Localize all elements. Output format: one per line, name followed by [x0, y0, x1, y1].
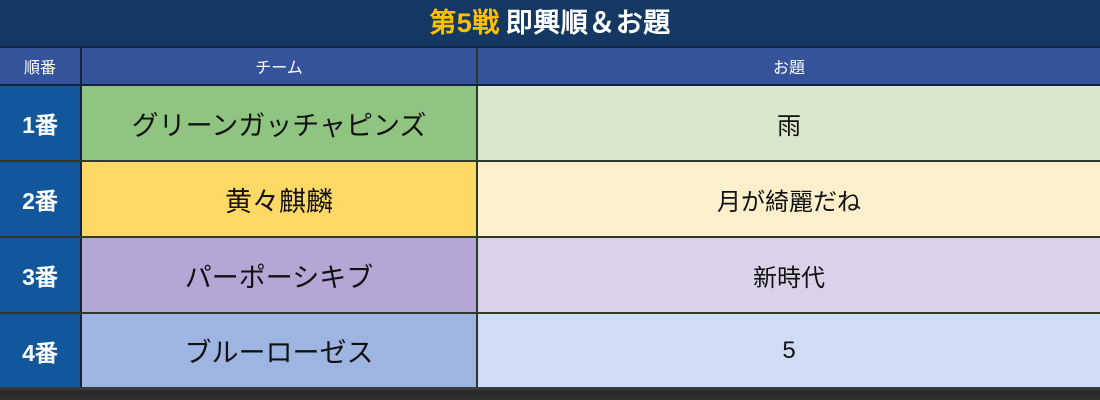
title-subject: 即興順＆お題 — [506, 8, 671, 38]
cell-team: 黄々麒麟 — [82, 162, 478, 236]
cell-team: パーポーシキブ — [82, 238, 478, 312]
order-and-topic-table: 順番 チーム お題 1番 グリーンガッチャピンズ 雨 2番 黄々麒麟 月が綺麗だ… — [0, 48, 1100, 396]
table-header-row: 順番 チーム お題 — [0, 48, 1100, 86]
cell-topic: 5 — [478, 314, 1100, 387]
title-bar: 第5戦即興順＆お題 — [0, 0, 1100, 48]
cell-topic: 雨 — [478, 86, 1100, 160]
table-row: 3番 パーポーシキブ 新時代 — [0, 238, 1100, 314]
cell-topic: 月が綺麗だね — [478, 162, 1100, 236]
column-header-topic: お題 — [478, 48, 1100, 84]
column-header-team: チーム — [82, 48, 478, 84]
slide-root: 第5戦即興順＆お題 順番 チーム お題 1番 グリーンガッチャピンズ 雨 2番 … — [0, 0, 1100, 400]
cell-team: グリーンガッチャピンズ — [82, 86, 478, 160]
page-title: 第5戦即興順＆お題 — [429, 10, 671, 37]
cell-order: 1番 — [0, 86, 82, 160]
table-row: 4番 ブルーローゼス 5 — [0, 314, 1100, 390]
table-row: 1番 グリーンガッチャピンズ 雨 — [0, 86, 1100, 162]
cell-order: 4番 — [0, 314, 82, 387]
column-header-order: 順番 — [0, 48, 82, 84]
cell-order: 2番 — [0, 162, 82, 236]
cell-topic: 新時代 — [478, 238, 1100, 312]
title-match-number: 第5戦 — [429, 8, 500, 38]
table-row: 2番 黄々麒麟 月が綺麗だね — [0, 162, 1100, 238]
cell-team: ブルーローゼス — [82, 314, 478, 387]
cell-order: 3番 — [0, 238, 82, 312]
